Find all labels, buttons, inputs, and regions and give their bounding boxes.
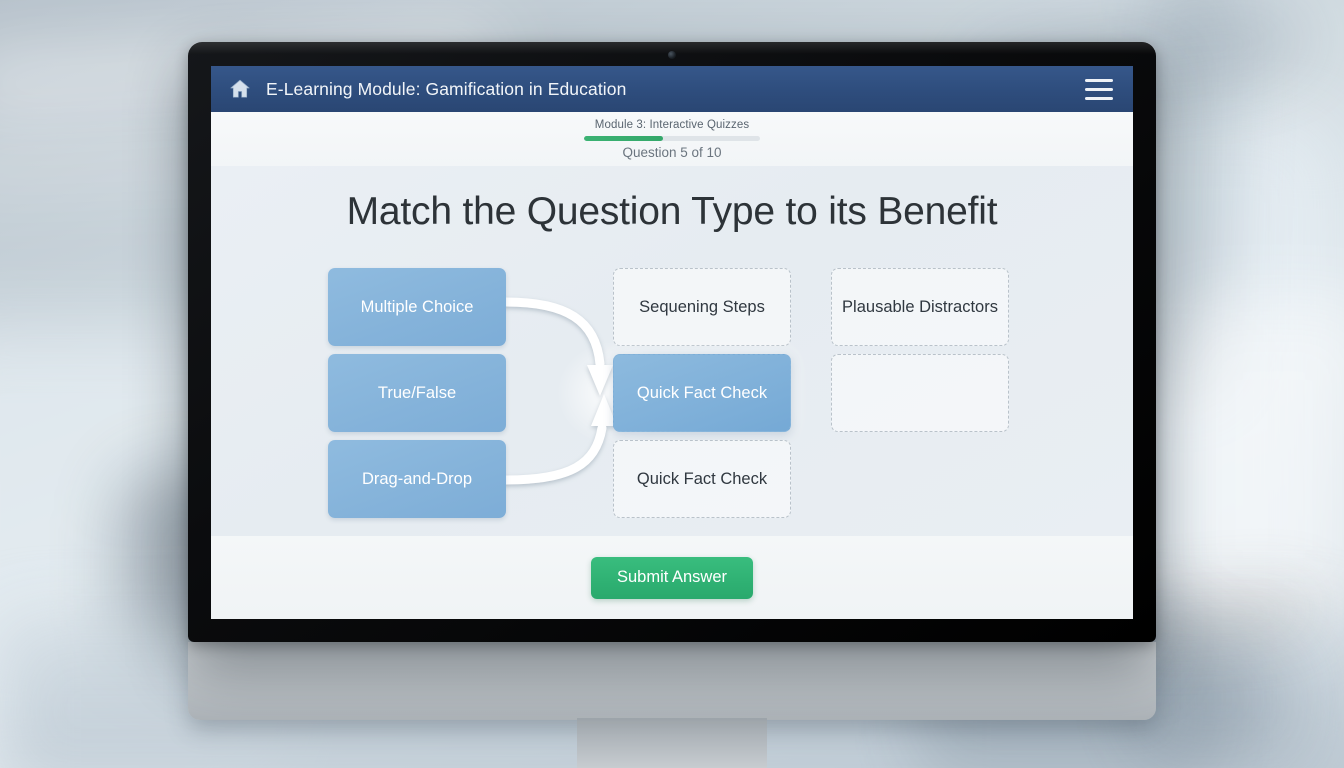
connector-arrow-up [506, 394, 617, 480]
matching-board: Multiple Choice True/False Drag-and-Drop… [211, 268, 1133, 530]
drop-slot-label: Quick Fact Check [637, 470, 767, 489]
source-card-drag-and-drop[interactable]: Drag-and-Drop [328, 440, 506, 518]
screen: E-Learning Module: Gamification in Educa… [211, 66, 1133, 619]
hamburger-menu-icon[interactable] [1085, 79, 1113, 100]
background-chair-2 [1134, 638, 1284, 758]
question-counter: Question 5 of 10 [622, 145, 721, 160]
app-header: E-Learning Module: Gamification in Educa… [211, 66, 1133, 112]
scene: E-Learning Module: Gamification in Educa… [0, 0, 1344, 768]
source-card-label: Drag-and-Drop [362, 470, 472, 489]
drop-slot-label: Plausable Distractors [842, 298, 998, 317]
drop-slot-sequening-steps[interactable]: Sequening Steps [613, 268, 791, 346]
progress-strip: Module 3: Interactive Quizzes Question 5… [211, 112, 1133, 166]
drop-slot-empty[interactable] [831, 354, 1009, 432]
webcam-dot [668, 51, 676, 59]
app-title: E-Learning Module: Gamification in Educa… [266, 79, 626, 100]
connector-arrow-down [506, 302, 613, 396]
drop-slot-quick-fact-check-filled[interactable]: Quick Fact Check [613, 354, 791, 432]
drop-slot-label: Quick Fact Check [637, 384, 767, 403]
source-card-label: True/False [378, 384, 456, 403]
drop-slot-label: Sequening Steps [639, 298, 765, 317]
source-card-multiple-choice[interactable]: Multiple Choice [328, 268, 506, 346]
drop-slot-quick-fact-check[interactable]: Quick Fact Check [613, 440, 791, 518]
background-glow-right [1164, 300, 1344, 630]
drop-slot-plausable-distractors[interactable]: Plausable Distractors [831, 268, 1009, 346]
monitor-stand-neck [577, 718, 767, 768]
monitor-bezel: E-Learning Module: Gamification in Educa… [188, 42, 1156, 642]
quiz-footer: Submit Answer [211, 536, 1133, 619]
submit-answer-button[interactable]: Submit Answer [591, 557, 753, 599]
monitor-chin [188, 642, 1156, 720]
module-label: Module 3: Interactive Quizzes [595, 119, 749, 131]
progress-bar [584, 136, 760, 141]
progress-bar-fill [584, 136, 663, 141]
home-icon[interactable] [228, 77, 252, 101]
quiz-body: Match the Question Type to its Benefit [211, 166, 1133, 536]
source-card-true-false[interactable]: True/False [328, 354, 506, 432]
source-card-label: Multiple Choice [361, 298, 474, 317]
quiz-title: Match the Question Type to its Benefit [211, 190, 1133, 234]
